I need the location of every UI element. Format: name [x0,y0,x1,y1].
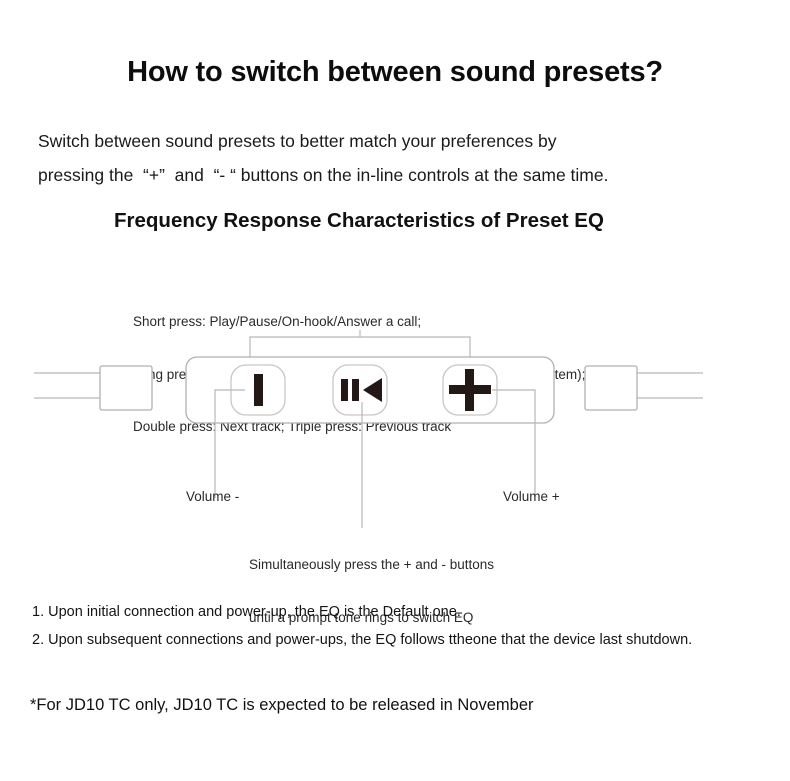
press-note-short: Short press: Play/Pause/On-hook/Answer a… [133,313,585,331]
note-item-1: 1. Upon initial connection and power-up,… [32,598,772,626]
right-cable [637,373,703,398]
vertical-bar-icon [254,374,263,406]
label-volume-plus: Volume + [503,489,560,504]
footnote: *For JD10 TC only, JD10 TC is expected t… [30,696,533,715]
intro-line-1: Switch between sound presets to better m… [38,124,752,158]
volume-plus-button [443,365,497,415]
label-simultaneous-line-1: Simultaneously press the + and - buttons [249,556,494,574]
plus-vertical-icon [465,369,474,411]
left-cable-cap [100,366,152,410]
pause-bar-right-icon [352,379,359,401]
pause-bar-left-icon [341,379,348,401]
label-volume-minus: Volume - [186,489,239,504]
numbered-notes: 1. Upon initial connection and power-up,… [32,598,772,654]
page-title: How to switch between sound presets? [0,56,790,89]
note-item-2: 2. Upon subsequent connections and power… [32,626,772,654]
right-cable-cap [585,366,637,410]
left-cable [34,373,100,398]
page-root: How to switch between sound presets? Swi… [0,0,790,781]
intro-paragraph: Switch between sound presets to better m… [38,124,752,192]
intro-line-2: pressing the “+” and “- “ buttons on the… [38,158,752,192]
play-pause-prev-button [333,365,387,415]
section-title: Frequency Response Characteristics of Pr… [114,209,604,233]
